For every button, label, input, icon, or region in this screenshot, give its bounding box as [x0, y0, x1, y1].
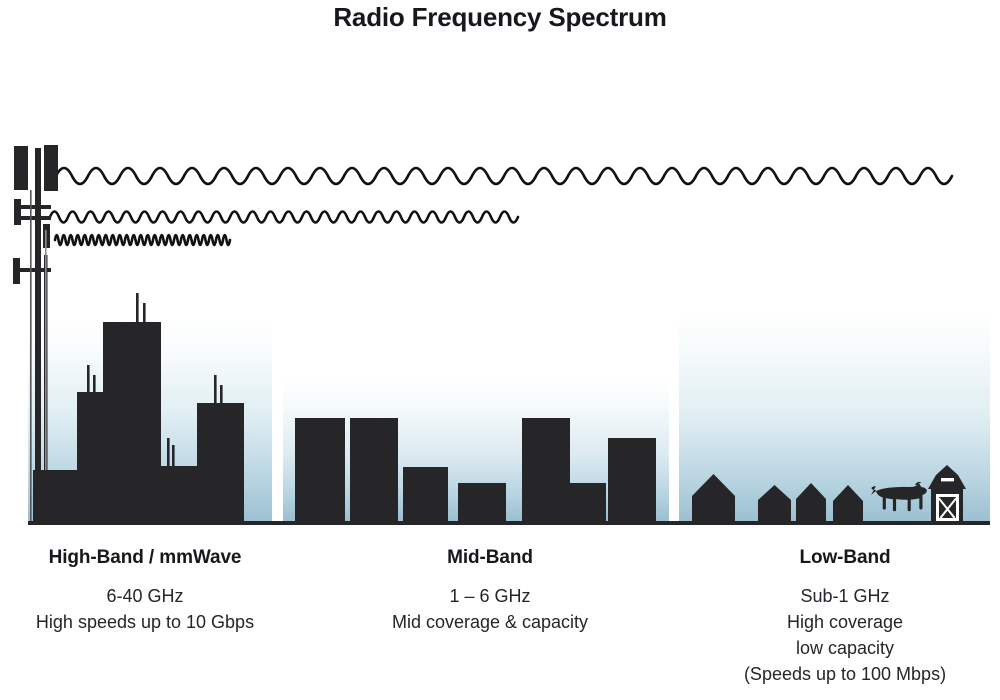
tower-cross-arm-2 [21, 216, 51, 220]
tower-guy-line-left [30, 190, 32, 521]
building [403, 467, 448, 521]
band-line: 1 – 6 GHz [355, 583, 625, 609]
building [103, 322, 161, 521]
building-spire [136, 293, 139, 325]
band-line: 6-40 GHz [0, 583, 290, 609]
building [568, 483, 606, 521]
building [522, 418, 570, 521]
band-heading-high: High-Band / mmWave [0, 547, 290, 569]
wave-medium-wavelength [50, 212, 518, 223]
panel-antenna-small-1 [14, 199, 21, 225]
building [295, 418, 345, 521]
panel-antenna-right [44, 145, 58, 191]
band-lines-low: Sub-1 GHz High coverage low capacity (Sp… [700, 583, 990, 687]
band-line: (Speeds up to 100 Mbps) [700, 661, 990, 687]
band-heading-low: Low-Band [700, 547, 990, 569]
rf-waves [50, 168, 952, 245]
wave-short-wavelength [55, 235, 230, 245]
band-line: High speeds up to 10 Gbps [0, 609, 290, 635]
building-spire [167, 438, 170, 468]
wave-long-wavelength [56, 168, 952, 184]
building [458, 483, 506, 521]
ground-line [28, 521, 990, 525]
building [33, 470, 77, 521]
infographic-root: Radio Frequency Spectrum [0, 0, 1000, 700]
band-caption-mid: Mid-Band 1 – 6 GHz Mid coverage & capaci… [355, 547, 625, 635]
panel-antenna-small-3 [13, 258, 20, 284]
building [197, 403, 244, 521]
band-line: low capacity [700, 635, 990, 661]
building [350, 418, 398, 521]
band-caption-high: High-Band / mmWave 6-40 GHz High speeds … [0, 547, 290, 635]
building [608, 438, 656, 521]
building [161, 466, 197, 521]
band-lines-mid: 1 – 6 GHz Mid coverage & capacity [355, 583, 625, 635]
building [77, 392, 103, 521]
band-line: High coverage [700, 609, 990, 635]
tower-mast [35, 148, 41, 521]
panel-antenna-left [14, 146, 28, 190]
barn-window [941, 478, 954, 481]
building-spire [172, 445, 175, 469]
band-caption-low: Low-Band Sub-1 GHz High coverage low cap… [700, 547, 990, 687]
band-heading-mid: Mid-Band [355, 547, 625, 569]
band-line: Mid coverage & capacity [355, 609, 625, 635]
building-spire [87, 365, 90, 395]
band-lines-high: 6-40 GHz High speeds up to 10 Gbps [0, 583, 290, 635]
building-spire [214, 375, 217, 405]
band-line: Sub-1 GHz [700, 583, 990, 609]
tower-cross-arm-1 [21, 205, 51, 209]
